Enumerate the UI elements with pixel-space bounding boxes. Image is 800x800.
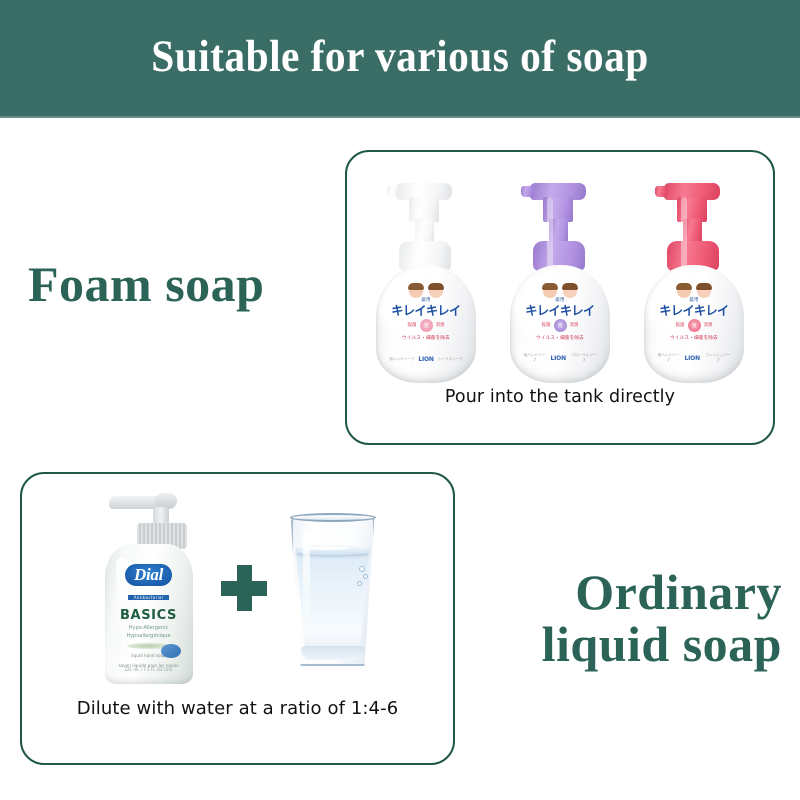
dial-brand-logo: Dial [125,564,172,586]
label-badge-row: 殺菌 泡 消臭 [388,319,464,332]
maker-logo-lion: LION [551,355,566,362]
badge-right-text: 消臭 [570,322,579,328]
infographic-canvas: Suitable for various of soap Foam soap [0,0,800,800]
badge-flower-icon: 泡 [688,319,701,332]
mascot-children-icon [540,283,580,298]
foam-soap-bottle-purple: 薬用 キレイキレイ 殺菌 泡 消臭 ウイルス・細菌を除去 泡ハンドソープ [505,179,615,384]
label-brand: キレイキレイ [524,304,597,317]
pump-dispenser-white-icon [371,179,481,279]
bottle-body: 薬用 キレイキレイ 殺菌 泡 消臭 ウイルス・細菌を除去 泡ハンドソープ [510,265,610,383]
badge-mark-text: 泡 [423,322,428,329]
dial-seal-icon [161,644,181,658]
badge-flower-icon: 泡 [554,319,567,332]
label-footer: 泡ハンドソープ LION フローラルソープ [522,353,598,363]
water-bubble [357,581,362,586]
badge-left-text: 殺菌 [542,322,551,328]
maker-logo-lion: LION [418,356,433,363]
label-footer: 泡ハンドソープ LION フレッシュソープ [656,353,732,363]
pump-dispenser-pink-icon [639,179,749,279]
label-variant-left: 泡ハンドソープ [522,353,547,363]
dial-bottle-body: Dial Antibacterial BASICS Hypo-Allergeni… [105,544,193,684]
dilution-illustration-row: Dial Antibacterial BASICS Hypo-Allergeni… [22,488,453,688]
badge-mark-text: 泡 [691,322,696,329]
label-variant-right: フレッシュソープ [704,353,732,363]
product-label: 薬用 キレイキレイ 殺菌 泡 消臭 ウイルス・細菌を除去 泡ハンドソープ [522,283,598,365]
label-tagline: ウイルス・細菌を除去 [522,335,598,341]
badge-right-text: 消臭 [436,322,445,328]
dial-liquid-soap-bottle: Dial Antibacterial BASICS Hypo-Allergeni… [95,492,203,684]
plus-sign-icon [221,565,267,611]
page-title: Suitable for various of soap [32,0,768,112]
badge-right-text: 消臭 [704,322,713,328]
label-variant-left: 泡ハンドソープ [389,357,414,362]
mascot-children-icon [406,283,446,298]
foam-bottle-row: 薬用 キレイキレイ 殺菌 泡 消臭 ウイルス・細菌を除去 泡ハンドソープ [347,174,773,384]
label-badge-row: 殺菌 泡 消臭 [656,319,732,332]
pump-highlight [413,197,419,269]
mascot-children-icon [674,283,714,298]
label-variant-right: フローラルソープ [570,353,598,363]
badge-flower-icon: 泡 [420,319,433,332]
label-tagline: ウイルス・細菌を除去 [656,335,732,341]
pump-dispenser-purple-icon [505,179,615,279]
product-label: 薬用 キレイキレイ 殺菌 泡 消臭 ウイルス・細菌を除去 泡ハンドソープ [388,283,464,365]
label-variant-left: 泡ハンドソープ [656,353,681,363]
dial-product-line: BASICS [105,608,193,623]
badge-mark-text: 泡 [557,322,562,329]
pump-highlight [547,197,553,269]
panel-ordinary-liquid-soap: Dial Antibacterial BASICS Hypo-Allergeni… [20,472,455,765]
pump-highlight [681,197,687,269]
bottle-body: 薬用 キレイキレイ 殺菌 泡 消臭 ウイルス・細菌を除去 泡ハンドソープ [644,265,744,383]
water-bubble [359,566,365,572]
dial-sub-brand: Antibacterial [128,595,169,600]
dial-volume: 221 mL / 7.5 FL OZ (US) [105,667,193,672]
caption-dilute-ratio: Dilute with water at a ratio of 1:4-6 [22,698,453,719]
section-heading-foam-soap: Foam soap [28,258,328,310]
glass-highlight [303,530,310,634]
panel-foam-soap: 薬用 キレイキレイ 殺菌 泡 消臭 ウイルス・細菌を除去 泡ハンドソープ [345,150,775,445]
label-brand: キレイキレイ [658,304,731,317]
glass-rim [290,513,376,522]
product-label: 薬用 キレイキレイ 殺菌 泡 消臭 ウイルス・細菌を除去 泡ハンドソープ [656,283,732,365]
caption-pour-into-tank: Pour into the tank directly [347,387,773,407]
badge-left-text: 殺菌 [408,322,417,328]
dial-claim-en: Hypo-Allergenic [105,625,193,632]
label-brand: キレイキレイ [390,304,463,317]
label-tagline: ウイルス・細菌を除去 [388,335,464,341]
water-glass-icon [285,508,381,668]
label-footer: 泡ハンドソープ LION シトラスソープ [388,356,464,363]
foam-soap-bottle-pink: 薬用 キレイキレイ 殺菌 泡 消臭 ウイルス・細菌を除去 泡ハンドソープ [639,179,749,384]
bottle-body: 薬用 キレイキレイ 殺菌 泡 消臭 ウイルス・細菌を除去 泡ハンドソープ [376,265,476,383]
foam-soap-bottle-white: 薬用 キレイキレイ 殺菌 泡 消臭 ウイルス・細菌を除去 泡ハンドソープ [371,179,481,384]
label-badge-row: 殺菌 泡 消臭 [522,319,598,332]
maker-logo-lion: LION [685,355,700,362]
section-heading-ordinary-liquid-soap: Ordinary liquid soap [452,566,782,670]
heading-line-1: Ordinary [575,564,782,620]
heading-line-2: liquid soap [452,618,782,670]
glass-base [301,646,365,660]
label-variant-right: シトラスソープ [438,357,463,362]
water-bubble [363,574,368,579]
header-divider [0,116,800,118]
dial-claim-fr: Hypoallergénique [105,633,193,640]
badge-left-text: 殺菌 [676,322,685,328]
